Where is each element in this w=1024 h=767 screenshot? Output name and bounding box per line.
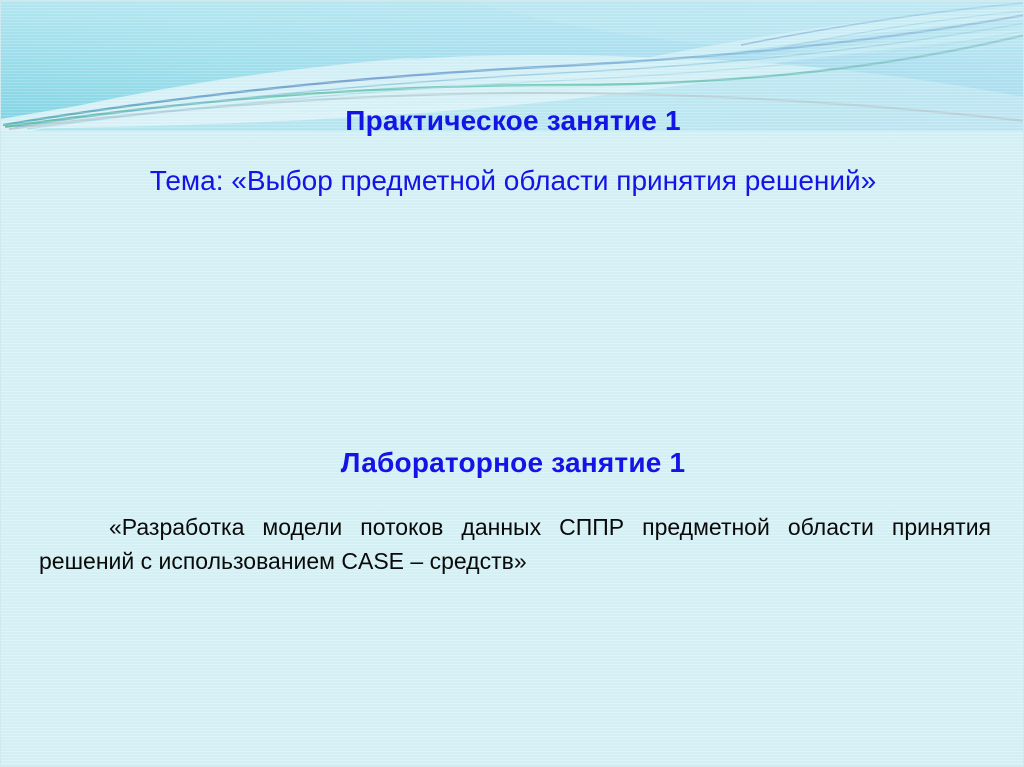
slide-content: Практическое занятие 1 Тема: «Выбор пред… [1, 1, 1023, 766]
lab-session-title: Лабораторное занятие 1 [1, 447, 1024, 479]
presentation-slide: Практическое занятие 1 Тема: «Выбор пред… [0, 0, 1024, 767]
practical-session-subtitle: Тема: «Выбор предметной области принятия… [1, 164, 1024, 198]
lab-session-body-text: «Разработка модели потоков данных СППР п… [39, 510, 991, 578]
practical-session-title: Практическое занятие 1 [1, 105, 1024, 137]
